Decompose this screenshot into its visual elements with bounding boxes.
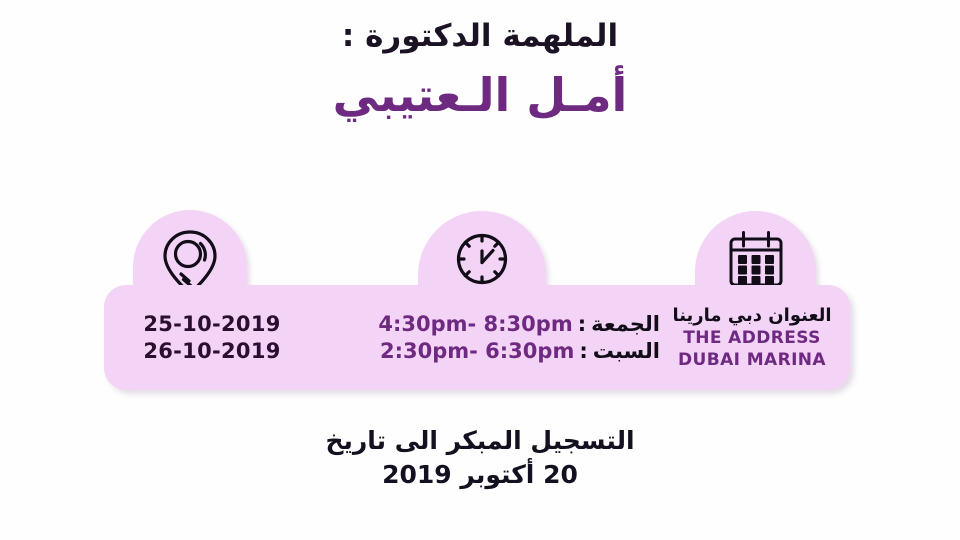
date-row: 26-10-2019: [143, 338, 280, 365]
times-column: الجمعة : 4:30pm- 8:30pm السبت : 2:30pm- …: [320, 311, 660, 365]
title-subtitle: الملهمة الدكتورة :: [0, 16, 960, 56]
time-row: الجمعة : 4:30pm- 8:30pm: [378, 311, 660, 338]
time-value: 2:30pm- 6:30pm: [380, 338, 574, 365]
location-column: العنوان دبي مارينا THE ADDRESS DUBAI MAR…: [660, 304, 850, 371]
footer-block: التسجيل المبكر الى تاريخ 20 أكتوبر 2019: [0, 424, 960, 492]
early-registration-line2: 20 أكتوبر 2019: [0, 458, 960, 492]
date-row: 25-10-2019: [143, 311, 280, 338]
event-info-card: العنوان دبي مارينا THE ADDRESS DUBAI MAR…: [100, 205, 850, 395]
location-english-line2: DUBAI MARINA: [678, 349, 826, 371]
clock-icon: [452, 229, 512, 289]
location-arabic: العنوان دبي مارينا: [672, 304, 831, 327]
time-value: 4:30pm- 8:30pm: [378, 311, 572, 338]
time-day-label: الجمعة: [591, 311, 660, 338]
calendar-icon: [725, 229, 787, 291]
poster-canvas: الملهمة الدكتورة : أمـل الـعتيبي: [0, 0, 960, 540]
time-separator: :: [573, 311, 591, 338]
title-speaker-name: أمـل الـعتيبي: [0, 62, 960, 128]
time-day-label: السبت: [593, 338, 660, 365]
location-english-line1: THE ADDRESS: [683, 327, 821, 349]
time-separator: :: [574, 338, 592, 365]
early-registration-line1: التسجيل المبكر الى تاريخ: [0, 424, 960, 458]
time-row: السبت : 2:30pm- 6:30pm: [380, 338, 660, 365]
dates-column: 25-10-2019 26-10-2019: [104, 311, 320, 365]
card-content: العنوان دبي مارينا THE ADDRESS DUBAI MAR…: [104, 285, 850, 390]
title-block: الملهمة الدكتورة : أمـل الـعتيبي: [0, 16, 960, 128]
